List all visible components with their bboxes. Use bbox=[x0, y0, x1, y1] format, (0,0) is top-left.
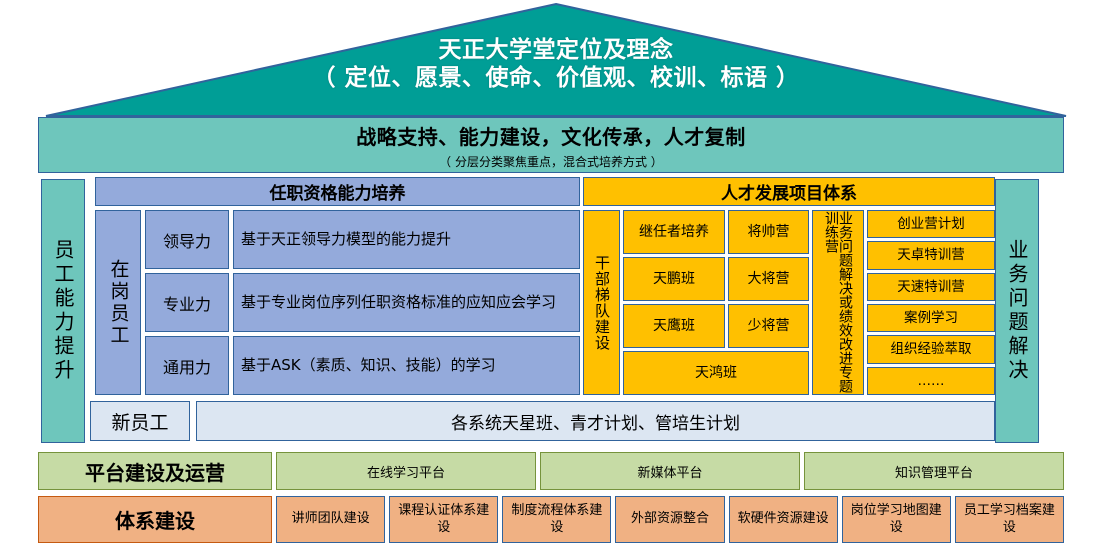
talent-program: 将帅营 bbox=[728, 210, 809, 254]
strategy-band-sub: （ 分层分类聚焦重点，混合式培养方式 ） bbox=[439, 153, 663, 170]
on-job-employee-label: 在岗员工 bbox=[109, 259, 128, 347]
talent-title: 人才发展项目体系 bbox=[583, 177, 995, 206]
system-item: 课程认证体系建设 bbox=[389, 496, 498, 543]
talent-program: 天鸿班 bbox=[623, 351, 809, 395]
main-body: 员工能力提升 业务问题解决 任职资格能力培养 在岗员工 领导力 基于天正领导力模… bbox=[38, 174, 1064, 448]
capability-label: 通用力 bbox=[145, 336, 229, 395]
talent-program: 组织经验萃取 bbox=[867, 335, 995, 363]
qualification-row: 领导力 基于天正领导力模型的能力提升 bbox=[145, 210, 580, 269]
platform-row: 平台建设及运营 在线学习平台 新媒体平台 知识管理平台 bbox=[38, 452, 1064, 490]
roof-title-line2: （ 定位、愿景、使命、价值观、校训、标语 ） bbox=[44, 64, 1068, 92]
strategy-band: 战略支持、能力建设，文化传承，人才复制 （ 分层分类聚焦重点，混合式培养方式 ） bbox=[38, 117, 1064, 173]
talent-mid-column: 继任者培养 将帅营 天鹏班 大将营 天鹰班 少将营 天鸿班 bbox=[623, 210, 809, 395]
system-item: 外部资源整合 bbox=[615, 496, 724, 543]
talent-section: 人才发展项目体系 干部梯队建设 继任者培养 将帅营 天鹏班 大将营 天鹰班 bbox=[583, 174, 995, 398]
new-employee-label: 新员工 bbox=[90, 401, 190, 441]
talent-grid: 干部梯队建设 继任者培养 将帅营 天鹏班 大将营 天鹰班 少将营 bbox=[583, 210, 995, 395]
new-employee-row: 新员工 各系统天星班、青才计划、管培生计划 bbox=[90, 401, 995, 441]
platform-lead-label: 平台建设及运营 bbox=[38, 452, 272, 490]
roof-banner: 天正大学堂定位及理念 （ 定位、愿景、使命、价值观、校训、标语 ） bbox=[44, 2, 1068, 118]
talent-mid-row: 天鹏班 大将营 bbox=[623, 257, 809, 301]
capability-label: 专业力 bbox=[145, 273, 229, 332]
qualification-row: 专业力 基于专业岗位序列任职资格标准的应知应会学习 bbox=[145, 273, 580, 332]
capability-description: 基于ASK（素质、知识、技能）的学习 bbox=[233, 336, 580, 395]
talent-program: 天速特训营 bbox=[867, 273, 995, 301]
platform-item: 知识管理平台 bbox=[804, 452, 1064, 490]
talent-program: 创业营计划 bbox=[867, 210, 995, 238]
diagram-root: 天正大学堂定位及理念 （ 定位、愿景、使命、价值观、校训、标语 ） 战略支持、能… bbox=[0, 0, 1114, 551]
talent-program: 案例学习 bbox=[867, 304, 995, 332]
qualification-section: 任职资格能力培养 在岗员工 领导力 基于天正领导力模型的能力提升 专业力 基于专… bbox=[90, 174, 580, 398]
talent-program: 天鹰班 bbox=[623, 304, 725, 348]
talent-program: 天鹏班 bbox=[623, 257, 725, 301]
sidebar-left-label: 员工能力提升 bbox=[53, 239, 73, 383]
system-item: 岗位学习地图建设 bbox=[842, 496, 951, 543]
cadre-pipeline-box: 干部梯队建设 bbox=[583, 210, 620, 395]
sidebar-employee-capability: 员工能力提升 bbox=[41, 179, 85, 443]
roof-title-line1: 天正大学堂定位及理念 bbox=[44, 36, 1068, 64]
strategy-band-main: 战略支持、能力建设，文化传承，人才复制 bbox=[356, 121, 746, 150]
sidebar-right-label: 业务问题解决 bbox=[1007, 239, 1027, 383]
roof-text-group: 天正大学堂定位及理念 （ 定位、愿景、使命、价值观、校训、标语 ） bbox=[44, 36, 1068, 92]
talent-program: 少将营 bbox=[728, 304, 809, 348]
business-problem-camp-label: 业务问题解决或绩效改进专题训练营 bbox=[824, 211, 852, 394]
qualification-row: 通用力 基于ASK（素质、知识、技能）的学习 bbox=[145, 336, 580, 395]
cadre-pipeline-label: 干部梯队建设 bbox=[594, 255, 609, 351]
system-item: 制度流程体系建设 bbox=[502, 496, 611, 543]
qualification-rows: 领导力 基于天正领导力模型的能力提升 专业力 基于专业岗位序列任职资格标准的应知… bbox=[145, 210, 580, 395]
talent-mid-row: 天鸿班 bbox=[623, 351, 809, 395]
platform-item: 新媒体平台 bbox=[540, 452, 800, 490]
qualification-grid: 在岗员工 领导力 基于天正领导力模型的能力提升 专业力 基于专业岗位序列任职资格… bbox=[95, 210, 580, 395]
capability-description: 基于专业岗位序列任职资格标准的应知应会学习 bbox=[233, 273, 580, 332]
talent-program: 大将营 bbox=[728, 257, 809, 301]
system-lead-label: 体系建设 bbox=[38, 496, 272, 543]
capability-label: 领导力 bbox=[145, 210, 229, 269]
business-problem-camp-box: 业务问题解决或绩效改进专题训练营 bbox=[812, 210, 864, 395]
system-row: 体系建设 讲师团队建设 课程认证体系建设 制度流程体系建设 外部资源整合 软硬件… bbox=[38, 496, 1064, 543]
system-item: 软硬件资源建设 bbox=[729, 496, 838, 543]
on-job-employee-label-box: 在岗员工 bbox=[95, 210, 141, 395]
platform-item: 在线学习平台 bbox=[276, 452, 536, 490]
talent-program: …… bbox=[867, 367, 995, 395]
system-item: 讲师团队建设 bbox=[276, 496, 385, 543]
sidebar-business-problem: 业务问题解决 bbox=[995, 179, 1039, 443]
capability-description: 基于天正领导力模型的能力提升 bbox=[233, 210, 580, 269]
talent-mid-row: 天鹰班 少将营 bbox=[623, 304, 809, 348]
system-item: 员工学习档案建设 bbox=[955, 496, 1064, 543]
talent-mid-row: 继任者培养 将帅营 bbox=[623, 210, 809, 254]
talent-right-column: 创业营计划 天卓特训营 天速特训营 案例学习 组织经验萃取 …… bbox=[867, 210, 995, 395]
new-employee-content: 各系统天星班、青才计划、管培生计划 bbox=[196, 401, 995, 441]
talent-program: 天卓特训营 bbox=[867, 241, 995, 269]
talent-program: 继任者培养 bbox=[623, 210, 725, 254]
qualification-title: 任职资格能力培养 bbox=[95, 177, 580, 206]
